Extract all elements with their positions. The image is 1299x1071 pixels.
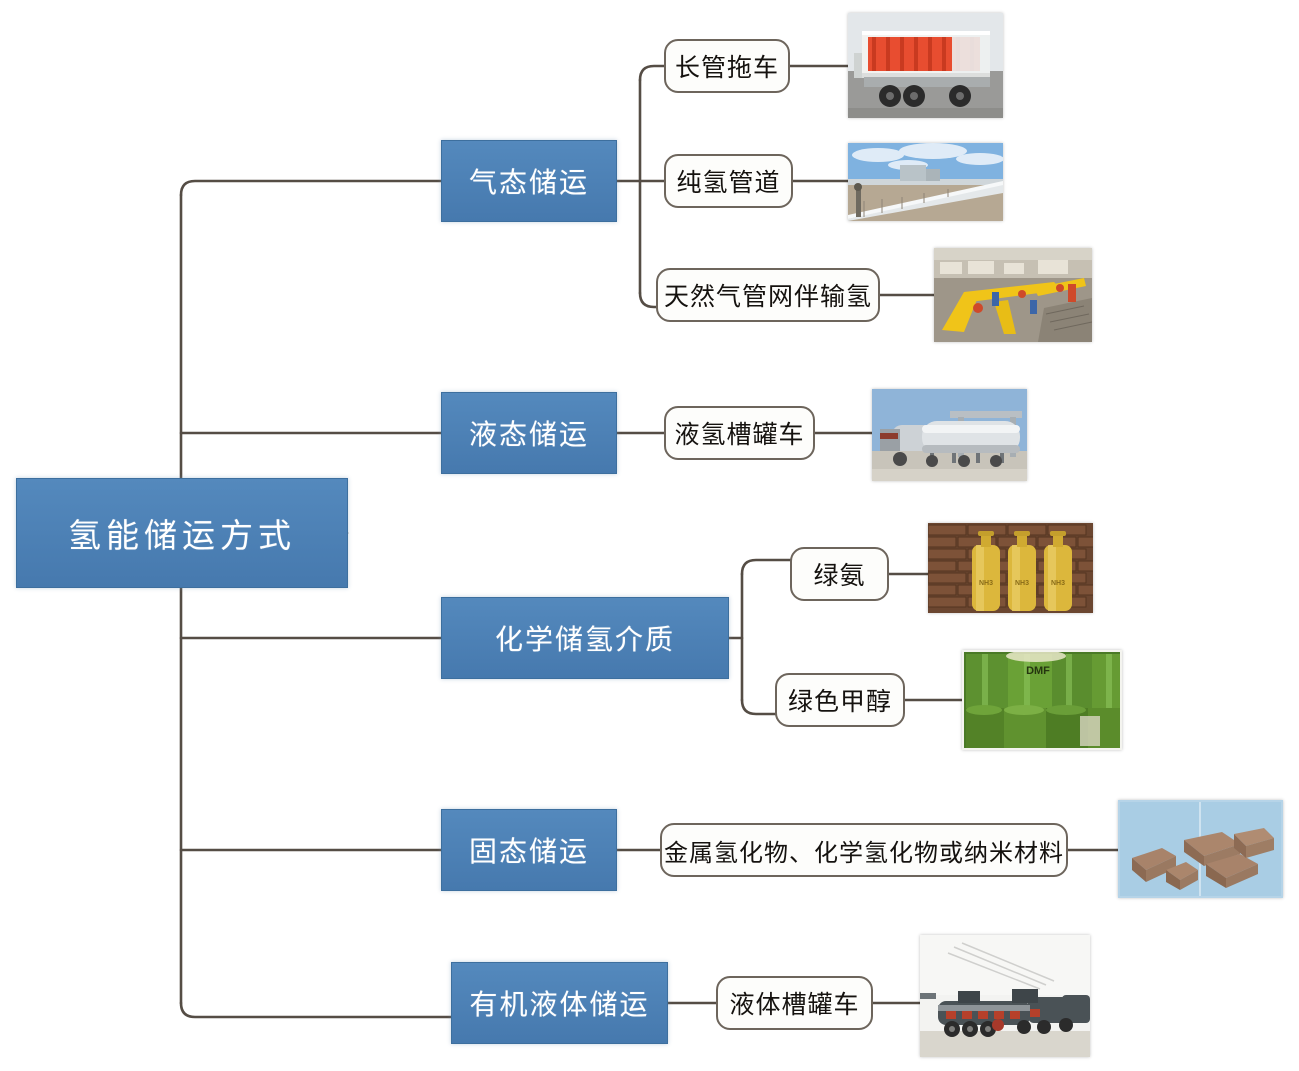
leaf-label-pure-hydrogen-pipeline: 纯氢管道 [676,163,780,199]
hydrogen-pipeline-photo [848,143,1003,221]
branch-label-liquid: 液态储运 [469,413,589,453]
green-drums-photo: DMF [962,650,1122,750]
natural-gas-pipeline-manifold-photo [934,248,1092,342]
branch-node-solid[interactable]: 固态储运 [441,809,617,891]
branch-node-chemical-medium[interactable]: 化学储氢介质 [441,597,729,679]
svg-text:DMF: DMF [1026,665,1050,677]
leaf-node-liquid-hydrogen-tanker[interactable]: 液氢槽罐车 [664,406,815,460]
leaf-label-green-methanol: 绿色甲醇 [788,682,892,718]
root-node[interactable]: 氢能储运方式 [16,478,348,588]
branch-node-liquid[interactable]: 液态储运 [441,392,617,474]
leaf-node-hydride-materials[interactable]: 金属氢化物、化学氢化物或纳米材料 [660,823,1068,877]
leaf-node-green-methanol[interactable]: 绿色甲醇 [775,673,905,727]
ammonia-cylinders-photo: NH3 NH3 NH3 [928,523,1093,613]
svg-text:NH3: NH3 [1051,580,1065,587]
branch-node-gaseous[interactable]: 气态储运 [441,140,617,222]
leaf-label-green-ammonia: 绿氨 [813,556,865,592]
liquid-hydrogen-tanker-photo [872,389,1027,481]
leaf-label-natural-gas-blending: 天然气管网伴输氢 [664,277,872,313]
metal-hydride-blocks-photo [1118,800,1283,898]
leaf-label-tube-trailer: 长管拖车 [675,48,779,84]
mindmap-canvas: 氢能储运方式 气态储运 长管拖车 纯氢管道 天然气管网伴输氢 液态储运 液氢槽罐… [0,0,1299,1071]
leaf-label-liquid-hydrogen-tanker: 液氢槽罐车 [674,415,804,451]
leaf-node-liquid-tanker[interactable]: 液体槽罐车 [716,976,873,1030]
branch-label-chemical-medium: 化学储氢介质 [495,618,675,658]
branch-label-solid: 固态储运 [469,830,589,870]
branch-node-organic-liquid[interactable]: 有机液体储运 [451,962,668,1044]
leaf-node-natural-gas-blending[interactable]: 天然气管网伴输氢 [656,268,880,322]
branch-label-gaseous: 气态储运 [469,161,589,201]
branch-label-organic-liquid: 有机液体储运 [469,983,649,1023]
tube-trailer-photo [848,13,1003,118]
leaf-node-green-ammonia[interactable]: 绿氨 [790,547,889,601]
root-node-label: 氢能储运方式 [68,509,296,557]
leaf-label-liquid-tanker: 液体槽罐车 [729,985,859,1021]
liquid-tanker-fleet-photo [920,935,1090,1057]
leaf-node-pure-hydrogen-pipeline[interactable]: 纯氢管道 [664,154,793,208]
svg-text:NH3: NH3 [979,580,993,587]
leaf-node-tube-trailer[interactable]: 长管拖车 [664,39,790,93]
svg-text:NH3: NH3 [1015,580,1029,587]
leaf-label-hydride-materials: 金属氢化物、化学氢化物或纳米材料 [664,833,1064,868]
